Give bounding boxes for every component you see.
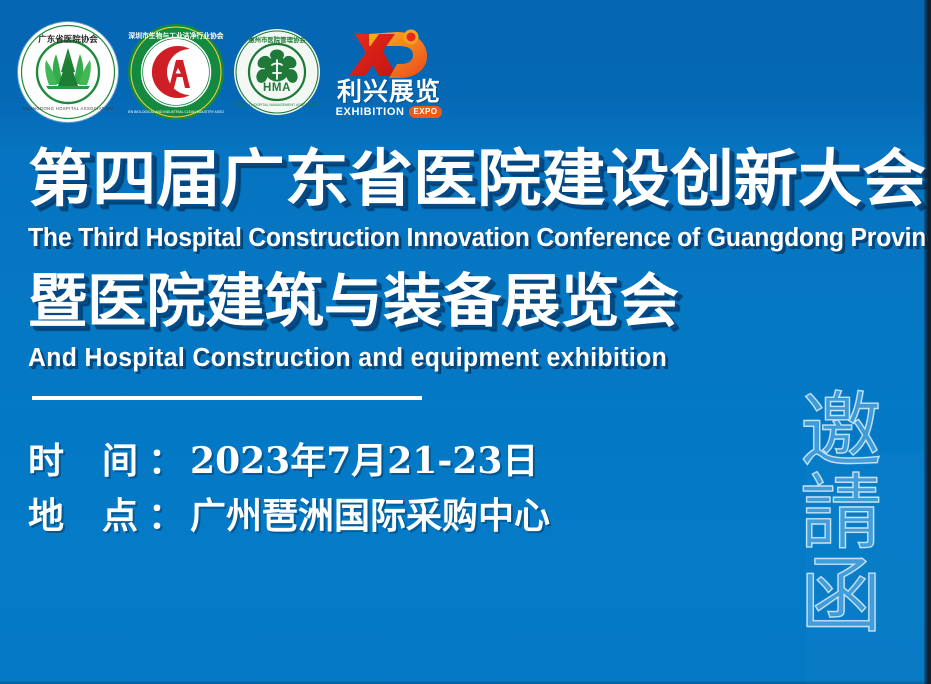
time-value: 2023年7月21-23日 bbox=[190, 434, 538, 489]
svg-text:深圳市生物与工业洁净行业协会: 深圳市生物与工业洁净行业协会 bbox=[128, 31, 223, 40]
invitation-char-1: 邀 bbox=[800, 392, 882, 472]
svg-text:惠州市医院管理协会: 惠州市医院管理协会 bbox=[248, 35, 306, 44]
place-label: 地点 bbox=[28, 489, 148, 544]
logo-hma-hospital-management-icon: HMA 惠州市医院管理协会 HUIZHOU HOSPITAL MANAGEMEN… bbox=[234, 29, 320, 115]
invitation-char-3: 函 bbox=[800, 557, 882, 637]
lixing-en-name: EXHIBITION bbox=[336, 106, 405, 118]
svg-text:GUANGDONG HOSPITAL ASSOCIATION: GUANGDONG HOSPITAL ASSOCIATION bbox=[23, 106, 114, 111]
time-colon: ： bbox=[148, 434, 184, 489]
logo-shenzhen-ca-association-icon: 深圳市生物与工业洁净行业协会 SHENZHEN BIOLOGICAL AND I… bbox=[128, 24, 224, 120]
logo-lixing-exhibition: 利兴展览 EXHIBITION EXPO bbox=[330, 22, 448, 122]
time-label: 时间 bbox=[28, 434, 148, 489]
detail-row-place: 地点 ： 广州琶洲国际采购中心 bbox=[28, 489, 550, 544]
svg-text:HMA: HMA bbox=[263, 82, 291, 94]
logo-guangdong-hospital-association-icon: 广东省医院协会 GUANGDONG HOSPITAL ASSOCIATION bbox=[18, 22, 118, 122]
place-colon: ： bbox=[148, 489, 184, 544]
lixing-x-mark-icon bbox=[339, 26, 439, 82]
invitation-char-2: 請 bbox=[800, 474, 882, 554]
lixing-expo-badge: EXPO bbox=[409, 106, 443, 118]
event-details: 时间 ： 2023年7月21-23日 地点 ： 广州琶洲国际采购中心 bbox=[28, 434, 550, 543]
headline-line1-en: The Third Hospital Construction Innovati… bbox=[28, 226, 931, 252]
invitation-poster: 广东省医院协会 GUANGDONG HOSPITAL ASSOCIATION 深… bbox=[0, 0, 931, 684]
headline-block: 第四届广东省医院建设创新大会 The Third Hospital Constr… bbox=[28, 148, 931, 371]
svg-text:SHENZHEN BIOLOGICAL AND INDUST: SHENZHEN BIOLOGICAL AND INDUSTRIAL CLEAN… bbox=[128, 110, 224, 114]
headline-line1-cn: 第四届广东省医院建设创新大会 bbox=[28, 148, 931, 210]
right-edge-shade bbox=[924, 0, 931, 684]
organizer-logo-bar: 广东省医院协会 GUANGDONG HOSPITAL ASSOCIATION 深… bbox=[18, 22, 448, 122]
detail-row-time: 时间 ： 2023年7月21-23日 bbox=[28, 434, 550, 489]
headline-line2-en: And Hospital Construction and equipment … bbox=[28, 346, 931, 372]
invitation-vertical-text: 邀 請 函 bbox=[793, 392, 889, 637]
place-value: 广州琶洲国际采购中心 bbox=[190, 489, 550, 544]
svg-text:HUIZHOU HOSPITAL MANAGEMENT AS: HUIZHOU HOSPITAL MANAGEMENT ASSOCIATION bbox=[234, 103, 320, 107]
section-divider bbox=[32, 396, 422, 400]
svg-text:广东省医院协会: 广东省医院协会 bbox=[38, 34, 98, 45]
lixing-cn-name: 利兴展览 bbox=[337, 79, 441, 104]
headline-line2-cn: 暨医院建筑与装备展览会 bbox=[28, 272, 931, 330]
